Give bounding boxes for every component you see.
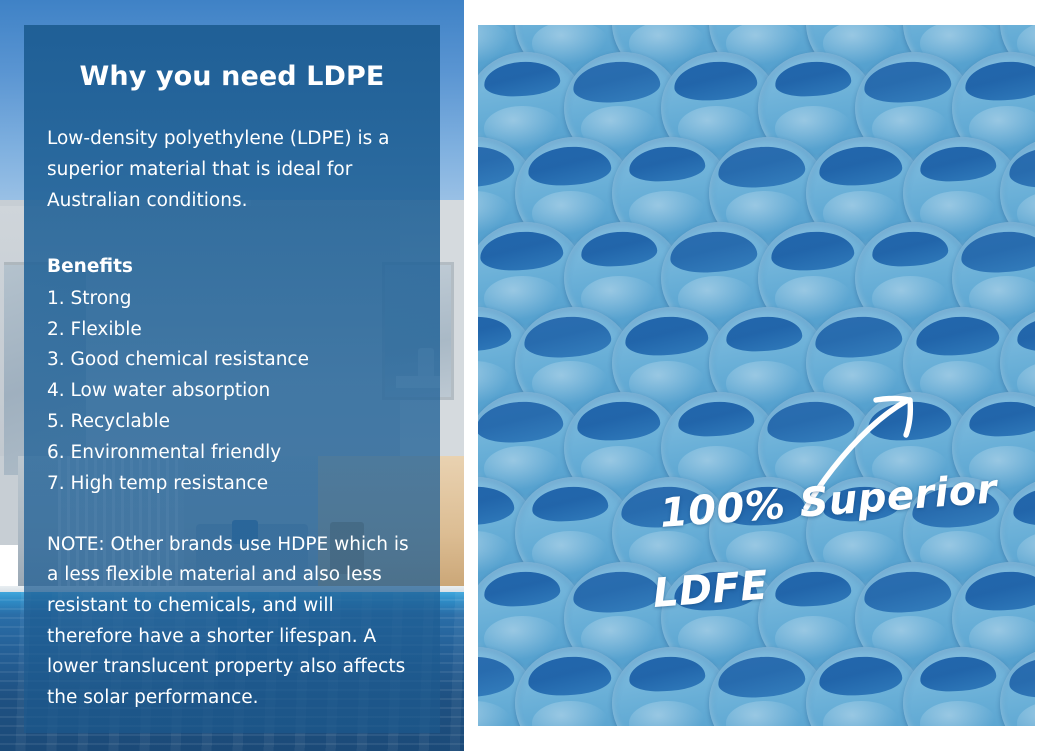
list-item-label: Strong: [71, 288, 132, 309]
list-item-number: 4.: [47, 380, 65, 401]
intro-paragraph: Low-density polyethylene (LDPE) is a sup…: [42, 93, 422, 216]
poster-canvas: Why you need LDPE Low-density polyethyle…: [0, 0, 1050, 751]
list-item-number: 2.: [47, 319, 65, 340]
list-item-label: Environmental friendly: [71, 442, 282, 463]
list-item-label: Good chemical resistance: [71, 349, 309, 370]
left-panel: Why you need LDPE Low-density polyethyle…: [0, 0, 464, 751]
list-item-number: 3.: [47, 349, 65, 370]
list-item: 4. Low water absorption: [47, 376, 422, 407]
page-title: Why you need LDPE: [42, 25, 422, 93]
list-item-label: Flexible: [71, 319, 142, 340]
list-item-label: Low water absorption: [71, 380, 271, 401]
benefits-heading: Benefits: [42, 217, 422, 278]
list-item-number: 1.: [47, 288, 65, 309]
list-item: 3. Good chemical resistance: [47, 345, 422, 376]
list-item-label: Recyclable: [71, 411, 170, 432]
list-item-number: 7.: [47, 473, 65, 494]
list-item: 5. Recyclable: [47, 407, 422, 438]
list-item-number: 5.: [47, 411, 65, 432]
list-item-number: 6.: [47, 442, 65, 463]
info-card: Why you need LDPE Low-density polyethyle…: [24, 25, 440, 733]
list-item: 7. High temp resistance: [47, 469, 422, 500]
note-paragraph: NOTE: Other brands use HDPE which is a l…: [42, 500, 422, 714]
list-item: 1. Strong: [47, 284, 422, 315]
benefits-list: 1. Strong 2. Flexible 3. Good chemical r…: [42, 278, 422, 500]
list-item: 6. Environmental friendly: [47, 438, 422, 469]
list-item: 2. Flexible: [47, 315, 422, 346]
list-item-label: High temp resistance: [71, 473, 269, 494]
right-panel: 100% Superior LDFE: [478, 25, 1035, 726]
